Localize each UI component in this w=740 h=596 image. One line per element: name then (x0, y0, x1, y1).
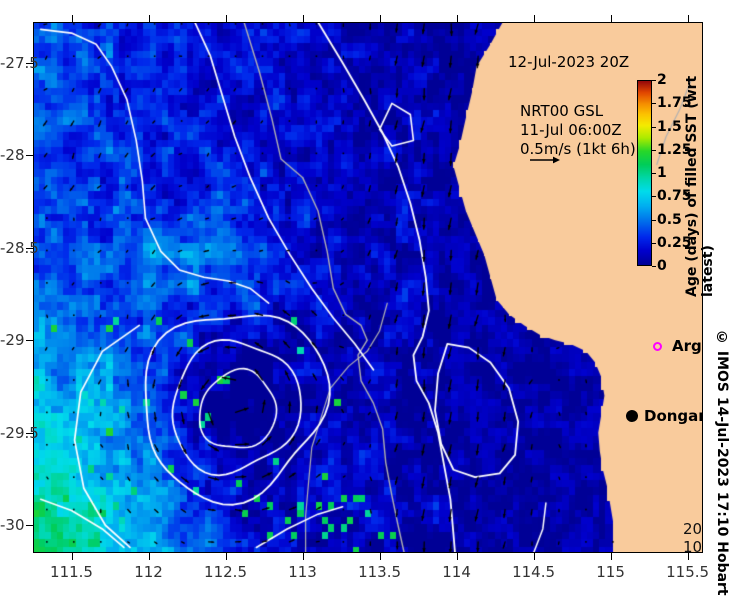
x-tick (688, 553, 689, 560)
x-tick-top (688, 15, 689, 22)
x-tick (457, 553, 458, 560)
colorbar-title: Age (days) of filled SST (wrt latest) (684, 72, 702, 297)
colorbar-tick (652, 196, 656, 197)
x-tick-top (226, 15, 227, 22)
y-tick (26, 155, 33, 156)
x-tick (226, 553, 227, 560)
colorbar-tick (652, 103, 656, 104)
x-tick-label: 113 (288, 563, 317, 581)
colorbar-tick (652, 266, 656, 267)
colorbar-tick-label: 1.5 (657, 119, 682, 135)
x-tick-top (380, 15, 381, 22)
x-tick (72, 553, 73, 560)
x-tick-label: 112.5 (204, 563, 247, 581)
x-tick-top (303, 15, 304, 22)
colorbar-tick (652, 150, 656, 151)
reference-arrow-icon (530, 154, 560, 166)
colorbar-gradient (637, 80, 652, 266)
x-tick-label: 114 (442, 563, 471, 581)
colorbar-tick (652, 127, 656, 128)
argo-legend-label: Argo (672, 337, 703, 355)
colorbar-tick-label: 1 (657, 165, 667, 181)
x-tick (534, 553, 535, 560)
gsl-product-label: NRT00 GSL (520, 102, 636, 121)
gsl-time-label: 11-Jul 06:00Z (520, 121, 636, 140)
x-tick-label: 115 (596, 563, 625, 581)
y-tick (26, 525, 33, 526)
colorbar-tick-label: 2 (657, 72, 667, 88)
colorbar-tick-label: 0.5 (657, 212, 682, 228)
x-tick (380, 553, 381, 560)
x-tick-label: 112 (134, 563, 163, 581)
depth-200m-label: 200m (683, 520, 703, 538)
x-tick (149, 553, 150, 560)
x-tick-label: 114.5 (512, 563, 555, 581)
sst-age-map-figure: 12-Jul-2023 20Z NRT00 GSL 11-Jul 06:00Z … (0, 0, 740, 592)
black-dot-marker-icon (626, 410, 638, 422)
y-tick-label: -28 (0, 146, 22, 164)
argo-legend-entry: Argo (653, 337, 703, 355)
depth-contour-legend: 200m 1000m (683, 520, 703, 553)
dongara-place-marker: Dongara (626, 407, 703, 425)
x-tick-label: 111.5 (50, 563, 93, 581)
x-tick-label: 115.5 (666, 563, 709, 581)
x-tick-label: 113.5 (358, 563, 401, 581)
x-tick-top (149, 15, 150, 22)
y-tick-label: -27.5 (0, 54, 22, 72)
colorbar-tick (652, 243, 656, 244)
y-tick (26, 340, 33, 341)
x-tick-top (457, 15, 458, 22)
colorbar-tick (652, 80, 656, 81)
colorbar-tick (652, 173, 656, 174)
y-tick-label: -29 (0, 331, 22, 349)
magenta-circle-marker-icon (653, 342, 662, 351)
depth-1000m-label: 1000m (683, 538, 703, 553)
y-tick-label: -29.5 (0, 424, 22, 442)
x-tick (611, 553, 612, 560)
date-stamp: 12-Jul-2023 20Z (508, 53, 629, 71)
dongara-label: Dongara (644, 407, 703, 425)
x-tick-top (72, 15, 73, 22)
map-plot-area[interactable]: 12-Jul-2023 20Z NRT00 GSL 11-Jul 06:00Z … (33, 22, 703, 553)
y-tick-label: -30 (0, 516, 22, 534)
credit-text: © IMOS 14-Jul-2023 17:10 Hobart (714, 330, 730, 596)
x-tick (303, 553, 304, 560)
x-tick-top (534, 15, 535, 22)
gsl-annotation-block: NRT00 GSL 11-Jul 06:00Z 0.5m/s (1kt 6h) (520, 102, 636, 159)
y-tick-label: -28.5 (0, 239, 22, 257)
x-tick-top (611, 15, 612, 22)
colorbar-tick-label: 0 (657, 258, 667, 274)
colorbar-tick (652, 220, 656, 221)
